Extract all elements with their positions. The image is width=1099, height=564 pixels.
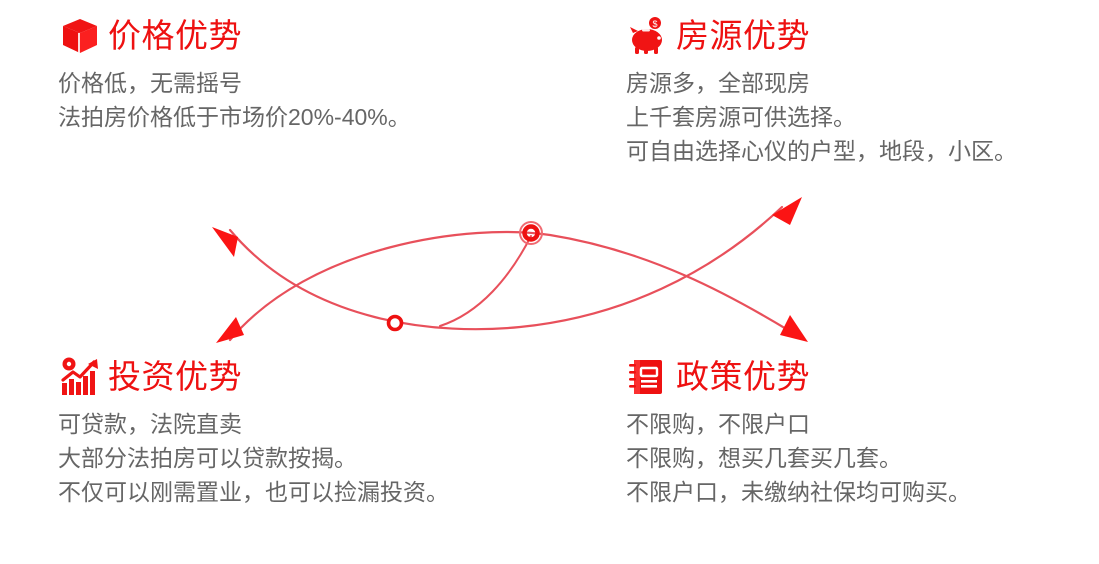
feature-line: 大部分法拍房可以贷款按揭。 [58, 441, 528, 475]
feature-line: 不限购，想买几套买几套。 [626, 441, 1096, 475]
crossing-arrows-decoration [190, 185, 830, 360]
feature-title: 房源优势 [676, 16, 810, 56]
feature-lines-investment: 可贷款，法院直卖 大部分法拍房可以贷款按揭。 不仅可以刚需置业，也可以捡漏投资。 [58, 407, 528, 509]
svg-text:$: $ [652, 19, 657, 29]
feature-line: 不限购，不限户口 [626, 407, 1096, 441]
feature-block-policy: 政策优势 不限购，不限户口 不限购，想买几套买几套。 不限户口，未缴纳社保均可购… [626, 353, 1096, 509]
infographic-page: 价格优势 价格低，无需摇号 法拍房价格低于市场价20%-40%。 $ [0, 0, 1099, 564]
feature-lines-listings: 房源多，全部现房 上千套房源可供选择。 可自由选择心仪的户型，地段，小区。 [626, 66, 1096, 168]
feature-line: 法拍房价格低于市场价20%-40%。 [58, 100, 528, 134]
feature-line: 不限户口，未缴纳社保均可购买。 [626, 475, 1096, 509]
feature-title: 投资优势 [108, 357, 242, 397]
feature-lines-price: 价格低，无需摇号 法拍房价格低于市场价20%-40%。 [58, 66, 528, 134]
feature-line: 可自由选择心仪的户型，地段，小区。 [626, 134, 1096, 168]
notebook-icon [626, 355, 670, 399]
feature-line: 上千套房源可供选择。 [626, 100, 1096, 134]
feature-lines-policy: 不限购，不限户口 不限购，想买几套买几套。 不限户口，未缴纳社保均可购买。 [626, 407, 1096, 509]
feature-heading-investment: 投资优势 [58, 353, 528, 401]
feature-line: 房源多，全部现房 [626, 66, 1096, 100]
feature-line: 价格低，无需摇号 [58, 66, 528, 100]
feature-block-listings: $ 房源优势 房源多，全部现房 上千套房源可供选择。 可自由选择心仪的户型，地段… [626, 12, 1096, 168]
feature-title: 价格优势 [108, 16, 242, 56]
bar-chart-growth-icon [58, 355, 102, 399]
box-icon [58, 14, 102, 58]
feature-heading-listings: $ 房源优势 [626, 12, 1096, 60]
feature-block-investment: 投资优势 可贷款，法院直卖 大部分法拍房可以贷款按揭。 不仅可以刚需置业，也可以… [58, 353, 528, 509]
feature-title: 政策优势 [676, 357, 810, 397]
feature-heading-price: 价格优势 [58, 12, 528, 60]
feature-block-price: 价格优势 价格低，无需摇号 法拍房价格低于市场价20%-40%。 [58, 12, 528, 134]
feature-line: 不仅可以刚需置业，也可以捡漏投资。 [58, 475, 528, 509]
piggy-bank-icon: $ [626, 14, 670, 58]
feature-line: 可贷款，法院直卖 [58, 407, 528, 441]
feature-heading-policy: 政策优势 [626, 353, 1096, 401]
